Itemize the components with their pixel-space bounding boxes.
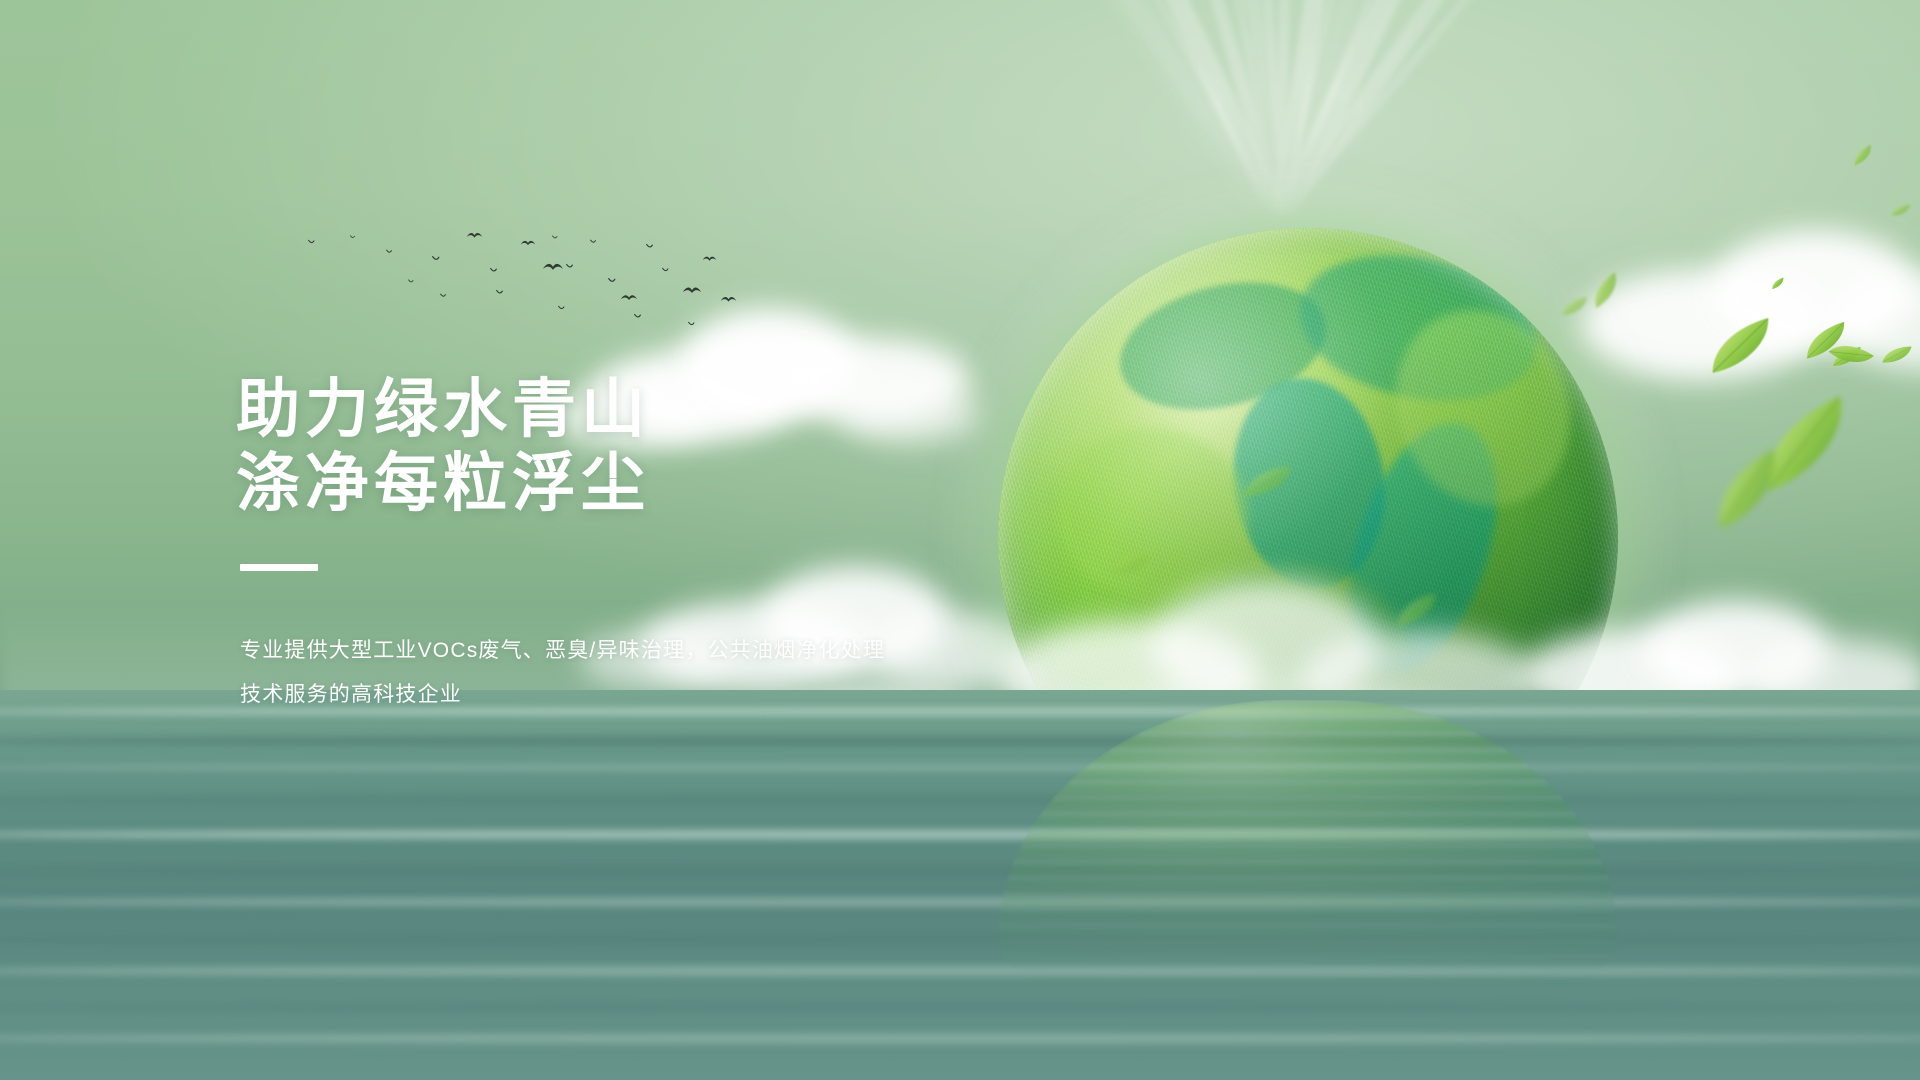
bird-icon (490, 266, 504, 275)
bird-icon (408, 278, 419, 285)
globe-reflection (998, 700, 1618, 1030)
bird-icon (386, 248, 398, 255)
bird-icon (646, 242, 660, 251)
bird-icon (702, 254, 717, 263)
bird-icon (552, 234, 563, 241)
bird-icon (308, 238, 321, 246)
bird-icon (466, 230, 483, 241)
headline-line-1: 助力绿水青山 (236, 373, 650, 445)
banner-hero: 助力绿水青山 涤净每粒浮尘 专业提供大型工业VOCs废气、恶臭/异味治理，公共油… (0, 0, 1920, 1080)
bird-icon (688, 320, 701, 328)
bird-icon (720, 294, 737, 305)
page-title: 助力绿水青山 涤净每粒浮尘 (236, 372, 996, 520)
bird-flock (290, 232, 730, 362)
title-divider (240, 564, 318, 571)
bird-icon (440, 292, 452, 299)
bird-icon (566, 262, 580, 271)
bird-icon (620, 292, 638, 303)
bird-icon (608, 276, 623, 285)
headline-line-2: 涤净每粒浮尘 (236, 447, 650, 519)
bird-icon (590, 238, 602, 245)
bird-icon (558, 304, 571, 312)
bird-icon (662, 266, 675, 274)
water-surface (0, 690, 1920, 1080)
hero-copy: 助力绿水青山 涤净每粒浮尘 专业提供大型工业VOCs废气、恶臭/异味治理，公共油… (236, 372, 996, 716)
bird-icon (682, 284, 702, 296)
bird-icon (520, 238, 536, 248)
reflection-ripple-bands (998, 700, 1618, 1030)
bird-icon (542, 260, 564, 274)
bird-icon (496, 288, 510, 297)
bird-icon (432, 254, 447, 263)
bird-icon (634, 312, 648, 321)
hero-description: 专业提供大型工业VOCs废气、恶臭/异味治理，公共油烟净化处理技术服务的高科技企… (240, 629, 900, 715)
bird-icon (350, 234, 360, 240)
